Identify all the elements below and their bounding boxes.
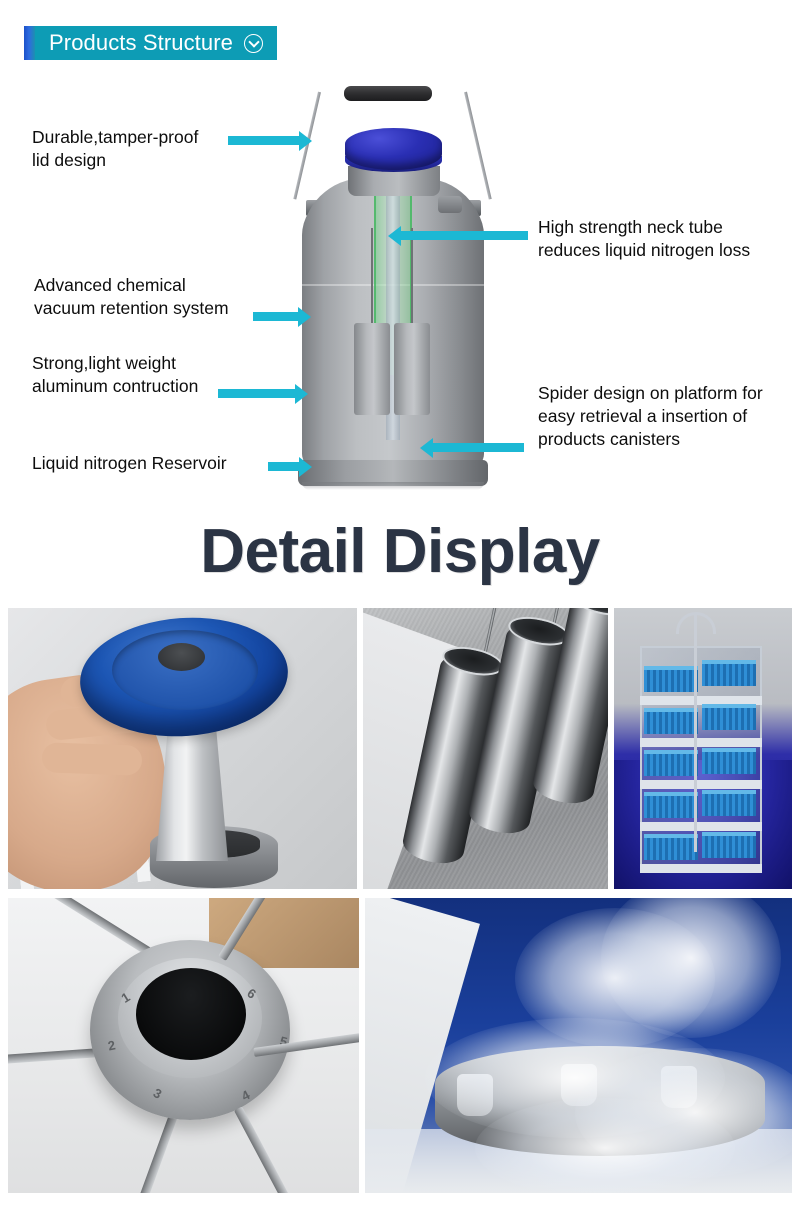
photo-nitrogen-vapor[interactable]	[365, 898, 792, 1193]
canister-rim	[570, 608, 608, 620]
neck-opening	[136, 968, 246, 1060]
vial-box-7	[644, 792, 698, 818]
rack-shelf-2	[640, 738, 762, 747]
rack-shelf-5	[640, 864, 762, 873]
blue-lid	[345, 128, 442, 170]
callout-neck-tube-line2: reduces liquid nitrogen loss	[538, 239, 750, 262]
arrow-lid	[228, 136, 300, 145]
callout-reservoir-line1: Liquid nitrogen Reservoir	[32, 452, 227, 475]
vial-box-6	[702, 748, 756, 774]
photo-row-bottom: 1 2 3 4 5 6	[8, 898, 792, 1193]
internal-canister-2	[394, 323, 430, 415]
blue-lid-center-hole	[158, 643, 205, 671]
arrow-neck-tube	[400, 231, 528, 240]
photo-vial-rack[interactable]	[614, 608, 792, 889]
callout-neck-tube-line1: High strength neck tube	[538, 216, 750, 239]
photo-canisters[interactable]	[363, 608, 608, 889]
vial-box-9	[644, 834, 698, 860]
banner-accent-bar	[24, 26, 35, 60]
callout-aluminum: Strong,light weight aluminum contruction	[32, 352, 198, 398]
callout-reservoir: Liquid nitrogen Reservoir	[32, 452, 227, 475]
callout-spider: Spider design on platform for easy retri…	[538, 382, 763, 451]
callout-lid: Durable,tamper-proof lid design	[32, 126, 198, 172]
canister-rod-1	[371, 228, 373, 328]
callout-aluminum-line2: aluminum contruction	[32, 375, 198, 398]
rack-shelf-4	[640, 822, 762, 831]
product-structure-diagram: Durable,tamper-proof lid design High str…	[0, 68, 800, 508]
detail-photo-grid: 1 2 3 4 5 6	[8, 608, 792, 1193]
canister-rod-2	[411, 228, 413, 328]
section-banner: Products Structure	[24, 26, 277, 60]
detail-display-title: Detail Display	[0, 516, 800, 587]
side-port	[438, 196, 462, 213]
internal-canister-1	[354, 323, 390, 415]
arrow-reservoir	[268, 462, 300, 471]
vial-box-5	[644, 750, 698, 776]
arrow-aluminum	[218, 389, 296, 398]
callout-vacuum-line2: vacuum retention system	[34, 297, 229, 320]
callout-neck-tube: High strength neck tube reduces liquid n…	[538, 216, 750, 262]
vial-box-3	[644, 708, 698, 734]
tank-base-shadow	[302, 482, 484, 490]
product-detail-page: Products Structure	[0, 0, 800, 1212]
callout-spider-line2: easy retrieval a insertion of	[538, 405, 763, 428]
photo-blue-lid[interactable]	[8, 608, 357, 889]
photo-row-top	[8, 608, 792, 889]
vial-box-8	[702, 790, 756, 816]
callout-vacuum-line1: Advanced chemical	[34, 274, 229, 297]
photo-spider-platform[interactable]: 1 2 3 4 5 6	[8, 898, 359, 1193]
vapor-cloud-5	[475, 1098, 735, 1193]
section-title: Products Structure	[35, 30, 233, 56]
arrow-vacuum	[253, 312, 299, 321]
arrow-spider	[432, 443, 524, 452]
vial-box-1	[644, 666, 698, 692]
rack-hook-stem	[694, 614, 697, 852]
finger-3	[42, 742, 143, 775]
callout-lid-line1: Durable,tamper-proof	[32, 126, 198, 149]
callout-spider-line3: products canisters	[538, 428, 763, 451]
vial-box-10	[702, 832, 756, 858]
rack-shelf-3	[640, 780, 762, 789]
chevron-down-circle-icon[interactable]	[244, 34, 263, 53]
vial-box-4	[702, 704, 756, 730]
carry-handle-icon	[344, 86, 432, 101]
handle-wire-right	[464, 92, 492, 200]
callout-spider-line1: Spider design on platform for	[538, 382, 763, 405]
callout-aluminum-line1: Strong,light weight	[32, 352, 198, 375]
callout-lid-line2: lid design	[32, 149, 198, 172]
vial-box-2	[702, 660, 756, 686]
callout-vacuum: Advanced chemical vacuum retention syste…	[34, 274, 229, 320]
